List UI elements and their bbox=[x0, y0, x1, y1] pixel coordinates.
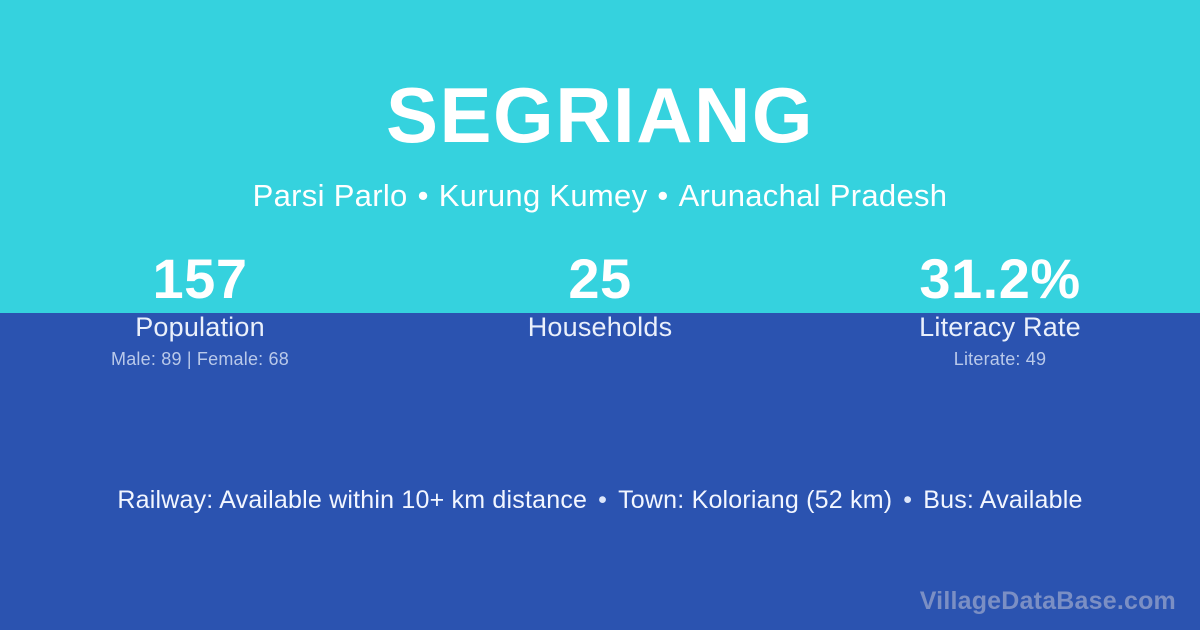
location-breadcrumb: Parsi Parlo•Kurung Kumey•Arunachal Prade… bbox=[0, 180, 1200, 211]
stat-households-breakdown bbox=[400, 348, 800, 370]
location-block: Parsi Parlo bbox=[253, 178, 408, 213]
infra-town: Town: Koloriang (52 km) bbox=[618, 486, 892, 514]
village-name-title: SEGRIANG bbox=[0, 76, 1200, 154]
stat-households-value: 25 bbox=[400, 248, 800, 310]
location-district: Kurung Kumey bbox=[439, 178, 648, 213]
stat-population-value: 157 bbox=[0, 248, 400, 310]
infra-bus: Bus: Available bbox=[923, 486, 1082, 514]
site-brand-watermark: VillageDataBase.com bbox=[920, 586, 1176, 616]
infra-railway: Railway: Available within 10+ km distanc… bbox=[117, 486, 587, 514]
stat-literacy-label: Literacy Rate bbox=[800, 310, 1200, 344]
card-header: SEGRIANG Parsi Parlo•Kurung Kumey•Arunac… bbox=[0, 0, 1200, 211]
location-separator-2: • bbox=[647, 180, 678, 211]
location-state: Arunachal Pradesh bbox=[679, 178, 948, 213]
stat-literacy-breakdown: Literate: 49 bbox=[800, 348, 1200, 370]
stat-households: 25 Households bbox=[400, 248, 800, 370]
village-info-card: SEGRIANG Parsi Parlo•Kurung Kumey•Arunac… bbox=[0, 0, 1200, 630]
location-separator-1: • bbox=[408, 180, 439, 211]
stat-literacy-value: 31.2% bbox=[800, 248, 1200, 310]
infra-separator-2: • bbox=[892, 485, 923, 515]
stat-population: 157 Population Male: 89 | Female: 68 bbox=[0, 248, 400, 370]
infrastructure-summary: Railway: Available within 10+ km distanc… bbox=[0, 485, 1200, 515]
infra-separator-1: • bbox=[587, 485, 618, 515]
stat-population-breakdown: Male: 89 | Female: 68 bbox=[0, 348, 400, 370]
stat-households-label: Households bbox=[400, 310, 800, 344]
stat-population-label: Population bbox=[0, 310, 400, 344]
statistics-row: 157 Population Male: 89 | Female: 68 25 … bbox=[0, 248, 1200, 370]
stat-literacy: 31.2% Literacy Rate Literate: 49 bbox=[800, 248, 1200, 370]
